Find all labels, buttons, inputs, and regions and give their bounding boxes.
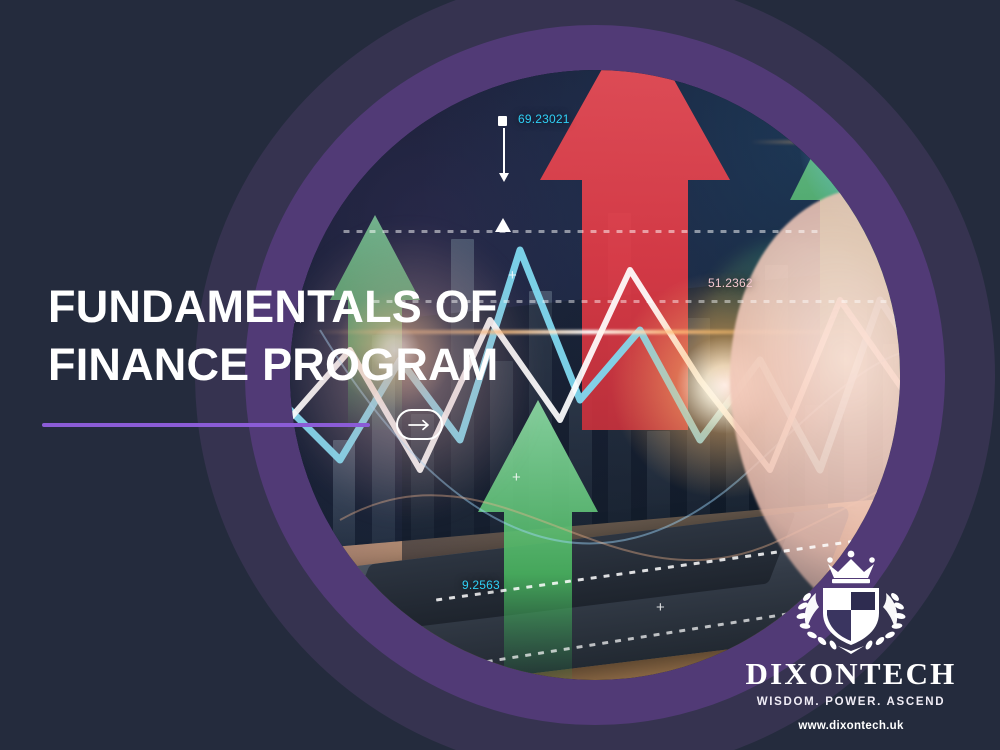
cta-arrow-button[interactable] — [396, 409, 443, 440]
page-title: FUNDAMENTALS OF FINANCE PROGRAM — [48, 278, 588, 393]
headline-line-2: FINANCE PROGRAM — [48, 336, 588, 394]
brand-lockup: DIXONTECH WISDOM. POWER. ASCEND www.dixo… — [726, 547, 976, 732]
dotted-track — [340, 230, 820, 233]
shield-quadrant-2 — [851, 592, 875, 610]
data-label-51-cyan: 51.2362 — [878, 156, 900, 170]
data-label-51-pink: 51.2362 — [708, 276, 753, 290]
plus-marker: + — [512, 470, 521, 485]
laurel-cross — [838, 646, 864, 654]
brand-name: DIXONTECH — [726, 657, 976, 691]
brand-tagline: WISDOM. POWER. ASCEND — [726, 696, 976, 708]
crown-shield-laurel-icon — [776, 547, 926, 655]
lens-flare-streak-upper — [750, 140, 900, 144]
data-label-69: 69.23021 — [518, 112, 570, 126]
value-marker-box — [498, 116, 507, 126]
plus-marker: + — [656, 600, 665, 615]
promotional-poster: + + + + + + 69.23021 51.2362 51.2362 9.2… — [0, 0, 1000, 750]
shield-quadrant-1 — [827, 592, 851, 610]
arrow-right-icon — [408, 419, 432, 431]
accent-divider — [42, 423, 370, 427]
brand-url[interactable]: www.dixontech.uk — [726, 720, 976, 732]
data-label-9: 9.2563 — [462, 578, 500, 592]
value-marker-arrow-down — [503, 128, 505, 174]
headline-line-1: FUNDAMENTALS OF — [48, 281, 498, 332]
value-marker-triangle-up — [495, 218, 511, 232]
